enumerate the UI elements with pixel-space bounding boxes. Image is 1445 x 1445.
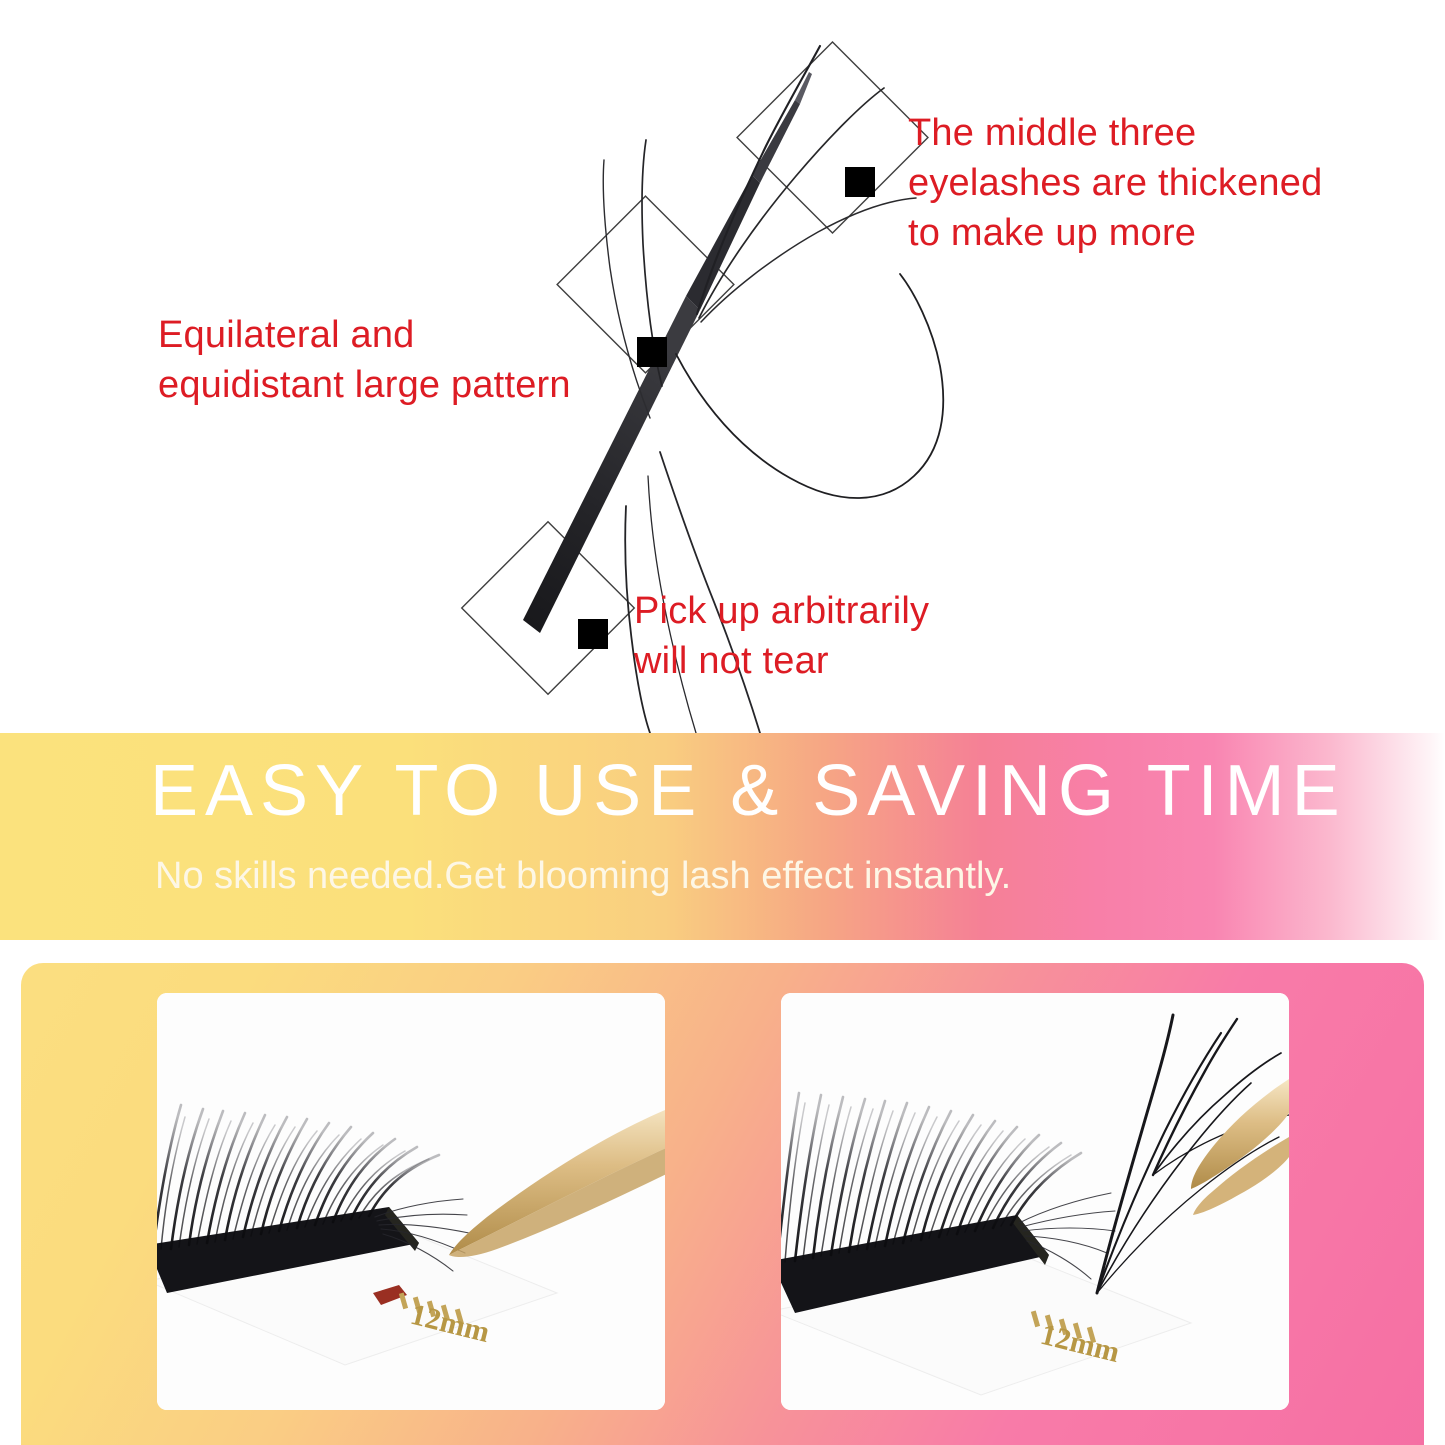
banner-subtitle: No skills needed.Get blooming lash effec…: [155, 854, 1011, 900]
banner-title: EASY TO USE & SAVING TIME: [150, 755, 1347, 827]
diamond-top-right-icon: [737, 42, 928, 233]
easy-to-use-banner: EASY TO USE & SAVING TIME No skills need…: [0, 733, 1445, 940]
lash-tray-tweezers-illustration-left: 12mm: [157, 993, 665, 1410]
marker-top-right-icon: [845, 167, 875, 197]
marker-bottom-icon: [578, 619, 608, 649]
photo-card-right: 12mm: [781, 993, 1289, 1410]
product-infographic-page: The middle three eyelashes are thickened…: [0, 0, 1445, 1445]
photo-card-left: 12mm: [157, 993, 665, 1410]
photo-left-image: 12mm: [157, 993, 665, 1410]
callout-pick-up-no-tear: Pick up arbitrarily will not tear: [634, 586, 1054, 686]
lash-tray-detached-fans-illustration-right: 12mm: [781, 993, 1289, 1410]
callout-equilateral-pattern: Equilateral and equidistant large patter…: [158, 310, 628, 410]
product-photo-panel: 12mm: [21, 963, 1424, 1445]
marker-middle-icon: [637, 337, 667, 367]
lash-diagram-section: The middle three eyelashes are thickened…: [0, 0, 1445, 733]
photo-right-image: 12mm: [781, 993, 1289, 1410]
callout-middle-three-thickened: The middle three eyelashes are thickened…: [908, 108, 1378, 258]
